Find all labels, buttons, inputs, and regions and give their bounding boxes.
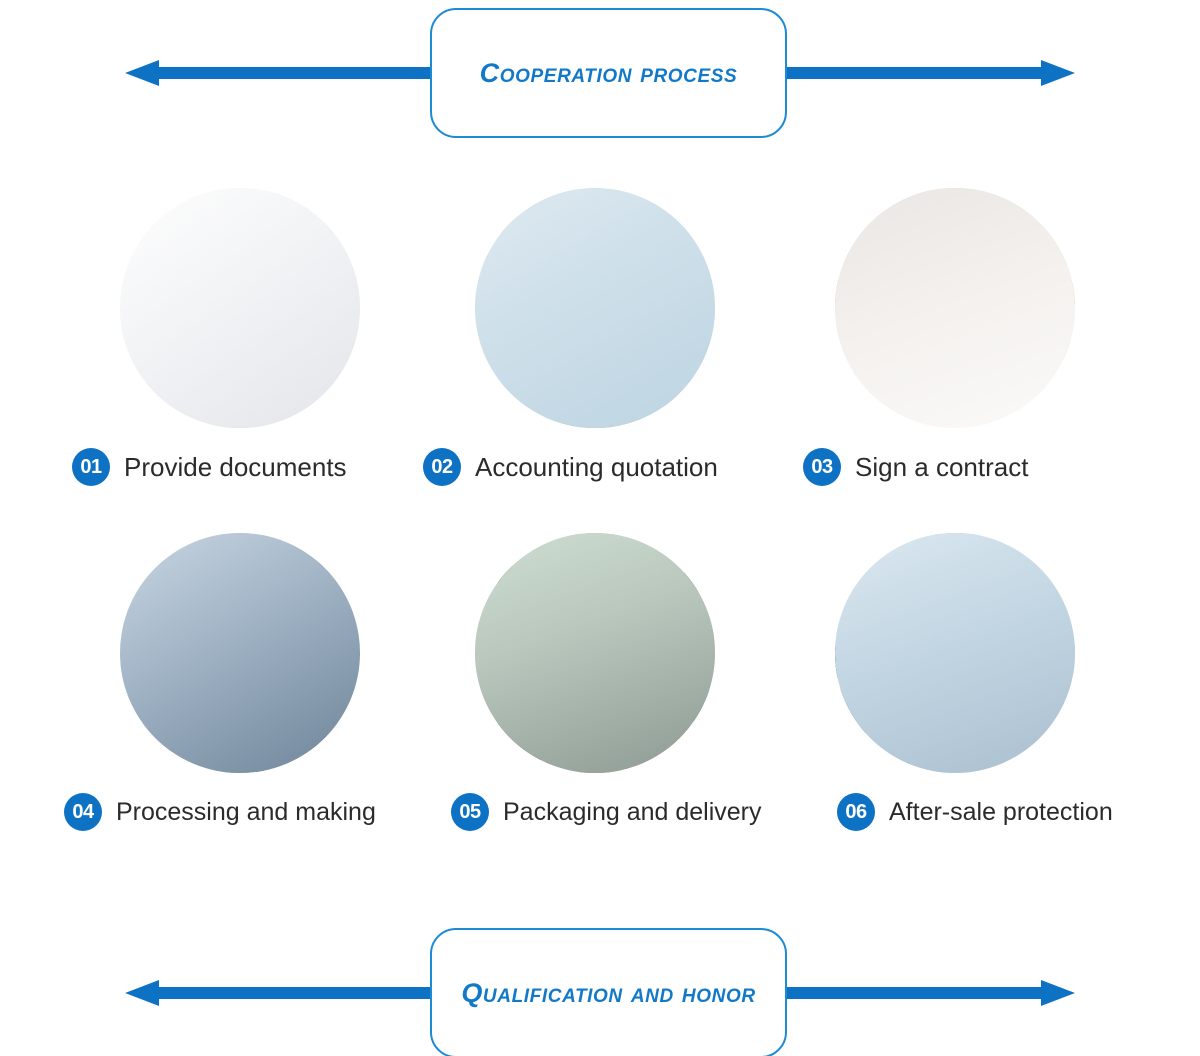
step-03-label: Sign a contract	[855, 454, 1028, 480]
top-banner: Cooperation process	[0, 8, 1200, 138]
process-step-03[interactable]: 03 Sign a contract	[765, 178, 1145, 523]
step-03-badge: 03	[803, 448, 841, 486]
bottom-banner: Qualification and honor	[0, 928, 1200, 1056]
step-06-image-circle	[835, 533, 1075, 773]
step-02-badge: 02	[423, 448, 461, 486]
step-04-image-circle	[120, 533, 360, 773]
process-steps: 60 W PE 01 Provide documents	[0, 178, 1200, 878]
workers-packaging-boxes-photo	[475, 533, 715, 773]
step-06-caption: 06 After-sale protection	[765, 785, 1145, 839]
process-step-06[interactable]: 06 After-sale protection	[765, 523, 1145, 868]
step-01-caption: 01 Provide documents	[50, 440, 430, 494]
step-04-caption: 04 Processing and making	[50, 785, 430, 839]
arrow-left-icon	[125, 980, 480, 1006]
step-02-image-circle: 4543	[475, 188, 715, 428]
arrow-left-icon	[125, 60, 480, 86]
step-01-label: Provide documents	[124, 454, 347, 480]
process-steps-row-2: 04 Processing and making	[0, 523, 1200, 868]
signing-contract-photo	[835, 188, 1075, 428]
top-banner-box: Cooperation process	[430, 8, 787, 138]
step-01-badge: 01	[72, 448, 110, 486]
step-05-badge: 05	[451, 793, 489, 831]
bottom-banner-box: Qualification and honor	[430, 928, 787, 1056]
office-support-staff-photo	[835, 533, 1075, 773]
step-03-caption: 03 Sign a contract	[765, 440, 1145, 494]
step-03-image-circle	[835, 188, 1075, 428]
step-06-label: After-sale protection	[889, 800, 1113, 825]
step-04-badge: 04	[64, 793, 102, 831]
top-banner-title: Cooperation process	[480, 58, 738, 89]
process-step-02[interactable]: 4543	[405, 178, 785, 523]
step-02-label: Accounting quotation	[475, 454, 718, 480]
step-01-image-circle: 60 W PE	[120, 188, 360, 428]
step-02-caption: 02 Accounting quotation	[405, 440, 785, 494]
step-06-badge: 06	[837, 793, 875, 831]
process-step-04[interactable]: 04 Processing and making	[50, 523, 430, 868]
hands-using-calculator-photo: 4543	[475, 188, 715, 428]
cnc-machining-photo	[120, 533, 360, 773]
step-05-image-circle	[475, 533, 715, 773]
process-step-05[interactable]: 05 Packaging and delivery	[405, 523, 785, 868]
step-05-label: Packaging and delivery	[503, 800, 762, 825]
process-step-01[interactable]: 60 W PE 01 Provide documents	[50, 178, 430, 523]
step-04-label: Processing and making	[116, 800, 376, 825]
cooperation-process-page: Cooperation process	[0, 0, 1200, 1056]
rolled-blueprint-drawings-photo: 60 W PE	[120, 188, 360, 428]
step-05-caption: 05 Packaging and delivery	[405, 785, 785, 839]
process-steps-row-1: 60 W PE 01 Provide documents	[0, 178, 1200, 523]
bottom-banner-title: Qualification and honor	[461, 978, 755, 1009]
